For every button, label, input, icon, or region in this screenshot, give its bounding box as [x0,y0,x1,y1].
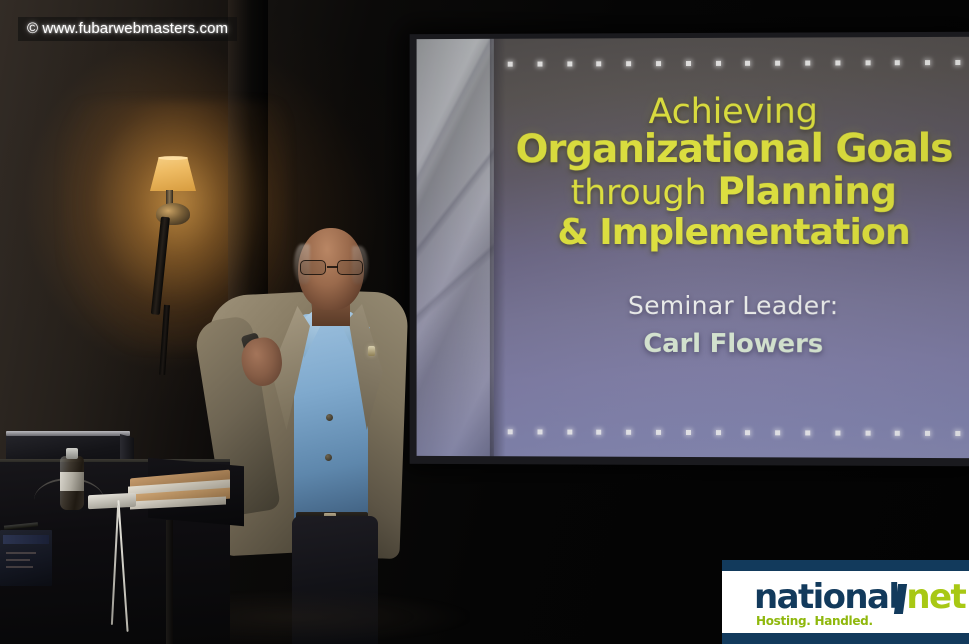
slide-photo-strip [417,39,494,456]
slide-dot [955,431,960,436]
slide-dot [895,60,900,65]
slide-dot [567,430,572,435]
logo-name-light: net [906,580,965,614]
logo-bar-top [722,560,969,571]
name-badge-text-line [6,559,30,561]
lamp-shade-top [158,156,188,160]
name-badge-text-line [6,566,33,568]
table-leg [166,520,173,644]
water-bottle-label [60,472,84,491]
name-badge-header [3,535,49,544]
laptop-screen-top-edge [6,431,130,436]
slide-dot [508,429,513,434]
slide-dot-border-bottom [508,429,961,436]
slide-dot [805,430,810,435]
slide-dot [656,61,661,66]
slide-title-line-2: Organizational Goals [504,129,965,171]
slide-text-block: Achieving Organizational Goals through P… [504,93,965,360]
slide-dot [805,61,810,66]
wall-sconce-lamp [139,155,211,315]
slide-dot [686,61,691,66]
name-badge-text-line [6,552,36,554]
photo-canvas: Achieving Organizational Goals through P… [0,0,969,644]
logo-name-dark: national [754,580,898,614]
slide-title-line-3-bold: Planning [717,169,896,212]
eyeglass-lens-right [337,260,363,275]
eyeglasses-icon [299,260,365,276]
presentation-slide: Achieving Organizational Goals through P… [417,37,969,458]
lapel-pin [368,346,375,356]
logo-wordmark: national net [754,580,965,614]
slide-dot [775,61,780,66]
slide-dot [656,430,661,435]
slide-dot [686,430,691,435]
copyright-watermark: © www.fubarwebmasters.com [18,17,237,41]
slide-dot [925,431,930,436]
water-bottle [60,448,84,510]
slide-dot [626,61,631,66]
slide-dot [865,431,870,436]
slide-dot [955,60,960,65]
slide-dot [508,62,513,67]
slide-dot [567,61,572,66]
presenter [206,222,406,644]
slide-dot [626,430,631,435]
slide-dot [835,60,840,65]
slide-dot [537,62,542,67]
slide-title-line-4: & Implementation [504,213,965,251]
slide-dot [745,430,750,435]
slide-dot [597,430,602,435]
jacket-button [326,414,333,421]
slide-title-line-3-prefix: through [571,173,718,213]
slide-dot [835,431,840,436]
power-strip [88,493,136,510]
slide-dot [775,430,780,435]
slide-title: Achieving Organizational Goals through P… [504,93,965,251]
slide-title-line-3: through Planning [504,172,965,211]
logo-tagline: Hosting. Handled. [756,614,873,628]
slide-dot-border-top [508,60,961,67]
paper-stack [128,474,234,508]
jacket-button [325,454,332,461]
seminar-leader-name: Carl Flowers [504,329,965,360]
nationalnet-logo: national net Hosting. Handled. [722,560,969,644]
eyeglass-lens-left [300,260,326,275]
slide-dot [895,431,900,436]
water-bottle-cap [66,448,78,459]
slide-dot [537,429,542,434]
slide-dot [865,60,870,65]
projection-screen: Achieving Organizational Goals through P… [410,32,969,466]
slide-dot [597,61,602,66]
logo-bar-bottom [722,633,969,644]
slide-dot [716,61,721,66]
slide-dot [745,61,750,66]
slide-dot [716,430,721,435]
seminar-leader-label: Seminar Leader: [504,291,965,321]
slide-dot [925,60,930,65]
slide-title-line-1: Achieving [504,93,965,131]
